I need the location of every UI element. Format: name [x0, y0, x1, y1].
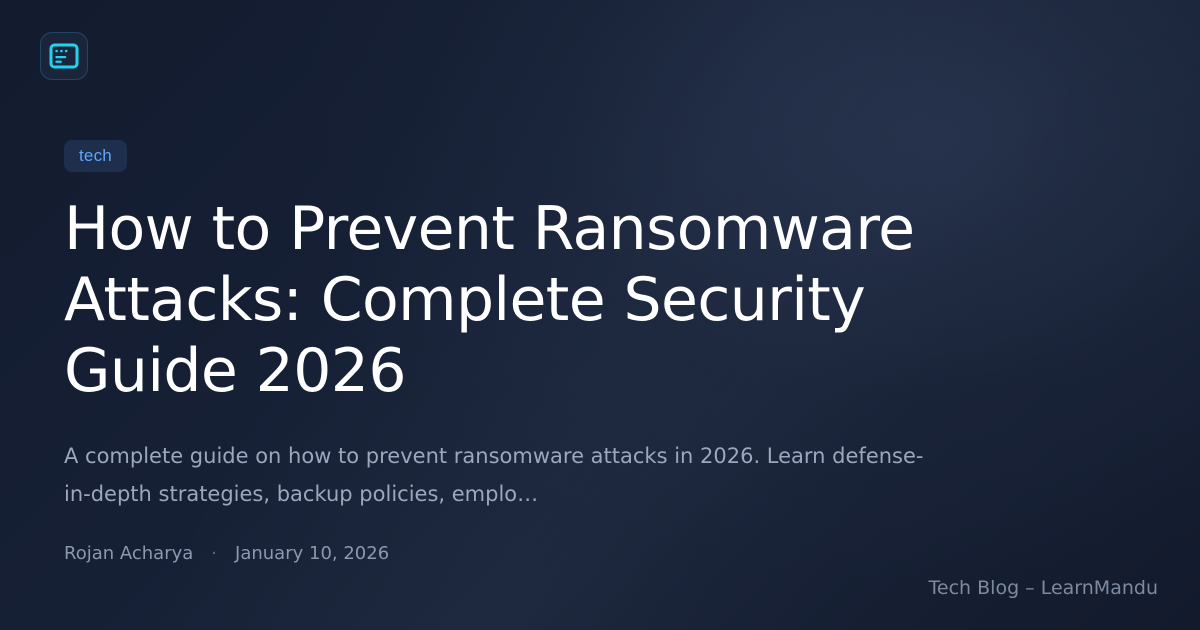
og-card: tech How to Prevent Ransomware Attacks: … [0, 0, 1200, 630]
tag-row: tech [64, 140, 1004, 172]
footer-brand-label: Tech Blog – LearnMandu [929, 579, 1158, 598]
site-logo[interactable] [40, 32, 88, 80]
category-badge[interactable]: tech [64, 140, 127, 172]
meta-separator: · [211, 545, 217, 563]
publish-date: January 10, 2026 [235, 545, 389, 563]
post-content: tech How to Prevent Ransomware Attacks: … [64, 140, 1004, 563]
post-description: A complete guide on how to prevent ranso… [64, 437, 944, 513]
author-name: Rojan Acharya [64, 545, 193, 563]
post-title: How to Prevent Ransomware Attacks: Compl… [64, 194, 1004, 407]
terminal-window-icon [49, 43, 79, 69]
post-meta: Rojan Acharya · January 10, 2026 [64, 545, 1004, 563]
